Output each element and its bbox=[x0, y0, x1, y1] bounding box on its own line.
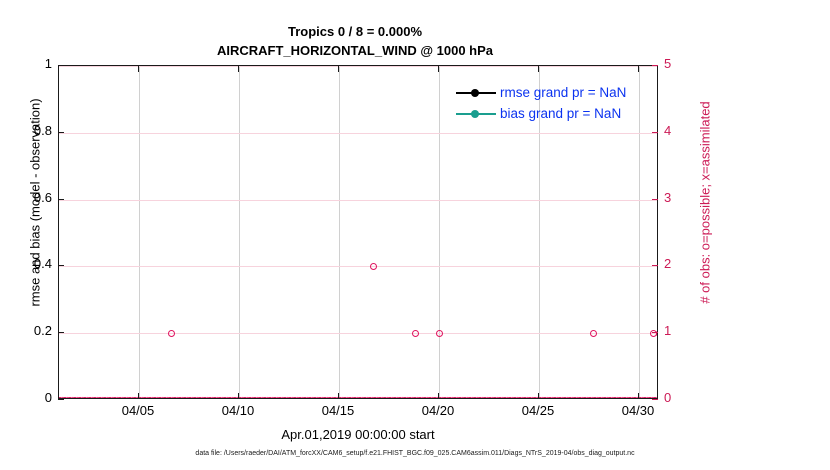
chart-title-line-2: AIRCRAFT_HORIZONTAL_WIND @ 1000 hPa bbox=[0, 41, 710, 60]
bottom-axis-title: Apr.01,2019 00:00:00 start bbox=[58, 427, 658, 442]
right-axis-tick bbox=[652, 65, 658, 66]
top-axis-tick bbox=[138, 66, 139, 72]
gridline-vertical bbox=[239, 66, 240, 398]
plot-screenshot: Tropics 0 / 8 = 0.000% AIRCRAFT_HORIZONT… bbox=[0, 0, 830, 470]
left-axis-tick bbox=[58, 399, 64, 400]
bottom-axis-tick bbox=[138, 393, 139, 399]
gridline-horizontal bbox=[59, 266, 657, 267]
bottom-axis-tick bbox=[538, 393, 539, 399]
right-axis-tick-label: 2 bbox=[664, 256, 671, 271]
top-axis-tick bbox=[338, 66, 339, 72]
gridline-horizontal bbox=[59, 200, 657, 201]
left-axis-tick bbox=[58, 199, 64, 200]
gridline-vertical bbox=[139, 66, 140, 398]
obs-possible-marker bbox=[590, 330, 597, 337]
left-axis-tick-labels: 00.20.40.60.81 bbox=[0, 0, 52, 470]
chart-title: Tropics 0 / 8 = 0.000% AIRCRAFT_HORIZONT… bbox=[0, 22, 710, 60]
gridline-vertical bbox=[439, 66, 440, 398]
right-axis-tick-label: 3 bbox=[664, 190, 671, 205]
right-axis-tick-label: 5 bbox=[664, 56, 671, 71]
right-axis-tick-label: 4 bbox=[664, 123, 671, 138]
right-axis-tick bbox=[652, 132, 658, 133]
bottom-axis-tick bbox=[438, 393, 439, 399]
bottom-axis-tick-label: 04/15 bbox=[308, 403, 368, 418]
left-axis-tick-label: 0 bbox=[4, 390, 52, 405]
legend-item: rmse grand pr = NaN bbox=[456, 82, 626, 103]
obs-possible-marker bbox=[168, 330, 175, 337]
bottom-axis-tick bbox=[238, 393, 239, 399]
obs-possible-marker bbox=[370, 263, 377, 270]
right-axis-tick bbox=[652, 265, 658, 266]
top-axis-tick bbox=[538, 66, 539, 72]
legend: rmse grand pr = NaNbias grand pr = NaN bbox=[452, 80, 630, 126]
left-axis-title: rmse and bias (model - observation) bbox=[28, 33, 43, 373]
top-axis-tick bbox=[638, 66, 639, 72]
data-file-caption: data file: /Users/raeder/DAI/ATM_forcXX/… bbox=[0, 450, 830, 457]
bottom-axis-tick-label: 04/20 bbox=[408, 403, 468, 418]
right-axis-tick bbox=[652, 399, 658, 400]
gridline-horizontal bbox=[59, 333, 657, 334]
bottom-axis-tick bbox=[338, 393, 339, 399]
left-axis-tick bbox=[58, 265, 64, 266]
bottom-axis-tick-label: 04/25 bbox=[508, 403, 568, 418]
gridline-horizontal bbox=[59, 66, 657, 67]
top-axis-tick bbox=[438, 66, 439, 72]
legend-item-label: bias grand pr = NaN bbox=[500, 106, 621, 121]
top-axis-tick bbox=[238, 66, 239, 72]
obs-assimilated-baseline: ××××××××××××××××××××××××××××××××××××××××… bbox=[59, 396, 657, 399]
left-axis-tick bbox=[58, 65, 64, 66]
gridline-vertical bbox=[639, 66, 640, 398]
legend-item-label: rmse grand pr = NaN bbox=[500, 85, 626, 100]
bottom-axis-tick bbox=[638, 393, 639, 399]
right-axis-tick bbox=[652, 199, 658, 200]
bottom-axis-tick-label: 04/30 bbox=[608, 403, 668, 418]
bottom-axis-tick-label: 04/05 bbox=[108, 403, 168, 418]
left-axis-tick bbox=[58, 132, 64, 133]
obs-possible-marker bbox=[412, 330, 419, 337]
legend-marker-icon bbox=[456, 87, 496, 99]
right-axis-tick-label: 1 bbox=[664, 323, 671, 338]
obs-possible-marker bbox=[436, 330, 443, 337]
chart-title-line-1: Tropics 0 / 8 = 0.000% bbox=[0, 22, 710, 41]
right-axis-tick bbox=[652, 332, 658, 333]
legend-marker-icon bbox=[456, 108, 496, 120]
gridline-horizontal bbox=[59, 133, 657, 134]
left-axis-tick bbox=[58, 332, 64, 333]
bottom-axis-tick-label: 04/10 bbox=[208, 403, 268, 418]
legend-item: bias grand pr = NaN bbox=[456, 103, 626, 124]
gridline-vertical bbox=[339, 66, 340, 398]
right-axis-title: # of obs: o=possible; x=assimilated bbox=[698, 33, 713, 373]
